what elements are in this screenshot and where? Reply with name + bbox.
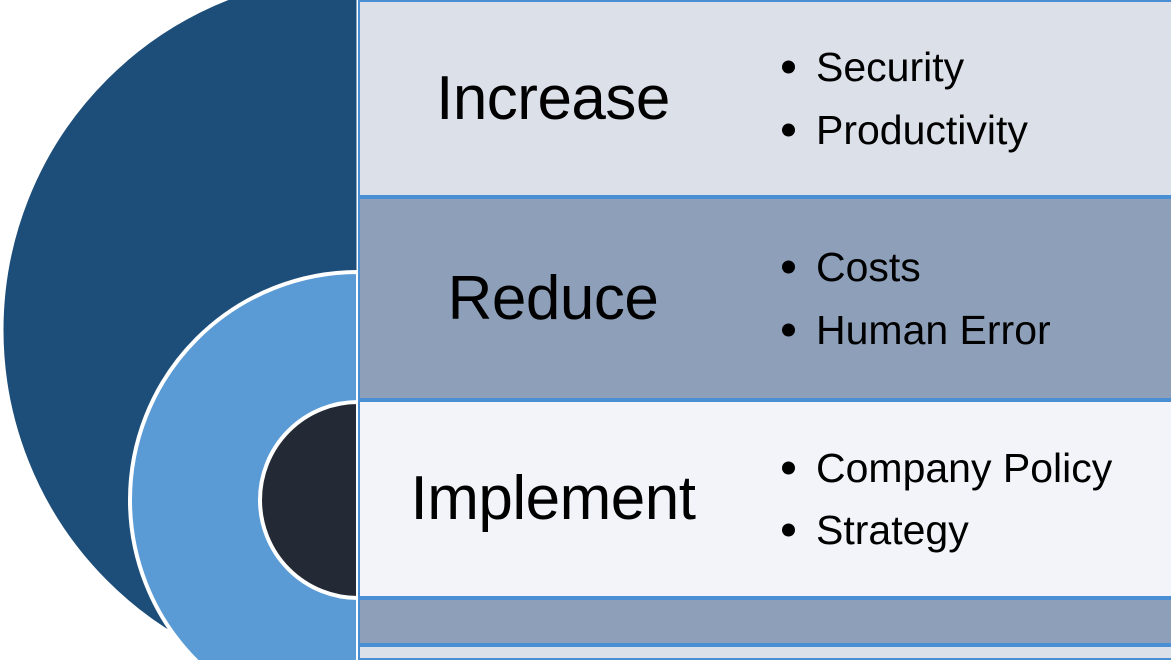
- list-item: Productivity: [774, 99, 1171, 161]
- semicircle-svg: [0, 0, 365, 660]
- band-column: Increase Security Productivity Reduce Co…: [358, 0, 1171, 660]
- band-increase-bullets: Security Productivity: [760, 36, 1171, 161]
- nested-semicircle-graphic: [0, 0, 365, 660]
- band-increase[interactable]: Increase Security Productivity: [358, 0, 1171, 197]
- band-partial-medium[interactable]: [358, 598, 1171, 645]
- band-implement[interactable]: Implement Company Policy Strategy: [358, 400, 1171, 598]
- list-item: Costs: [774, 236, 1171, 298]
- band-reduce[interactable]: Reduce Costs Human Error: [358, 197, 1171, 400]
- diagram-canvas: Increase Security Productivity Reduce Co…: [0, 0, 1171, 660]
- band-reduce-heading: Reduce: [360, 266, 760, 331]
- list-item: Human Error: [774, 299, 1171, 361]
- list-item: Company Policy: [774, 437, 1171, 499]
- list-item: Security: [774, 36, 1171, 98]
- list-item: Strategy: [774, 499, 1171, 561]
- band-implement-heading: Implement: [360, 466, 760, 531]
- band-implement-bullets: Company Policy Strategy: [760, 437, 1171, 562]
- band-reduce-bullets: Costs Human Error: [760, 236, 1171, 361]
- band-increase-heading: Increase: [360, 66, 760, 131]
- band-partial-light[interactable]: [358, 645, 1171, 660]
